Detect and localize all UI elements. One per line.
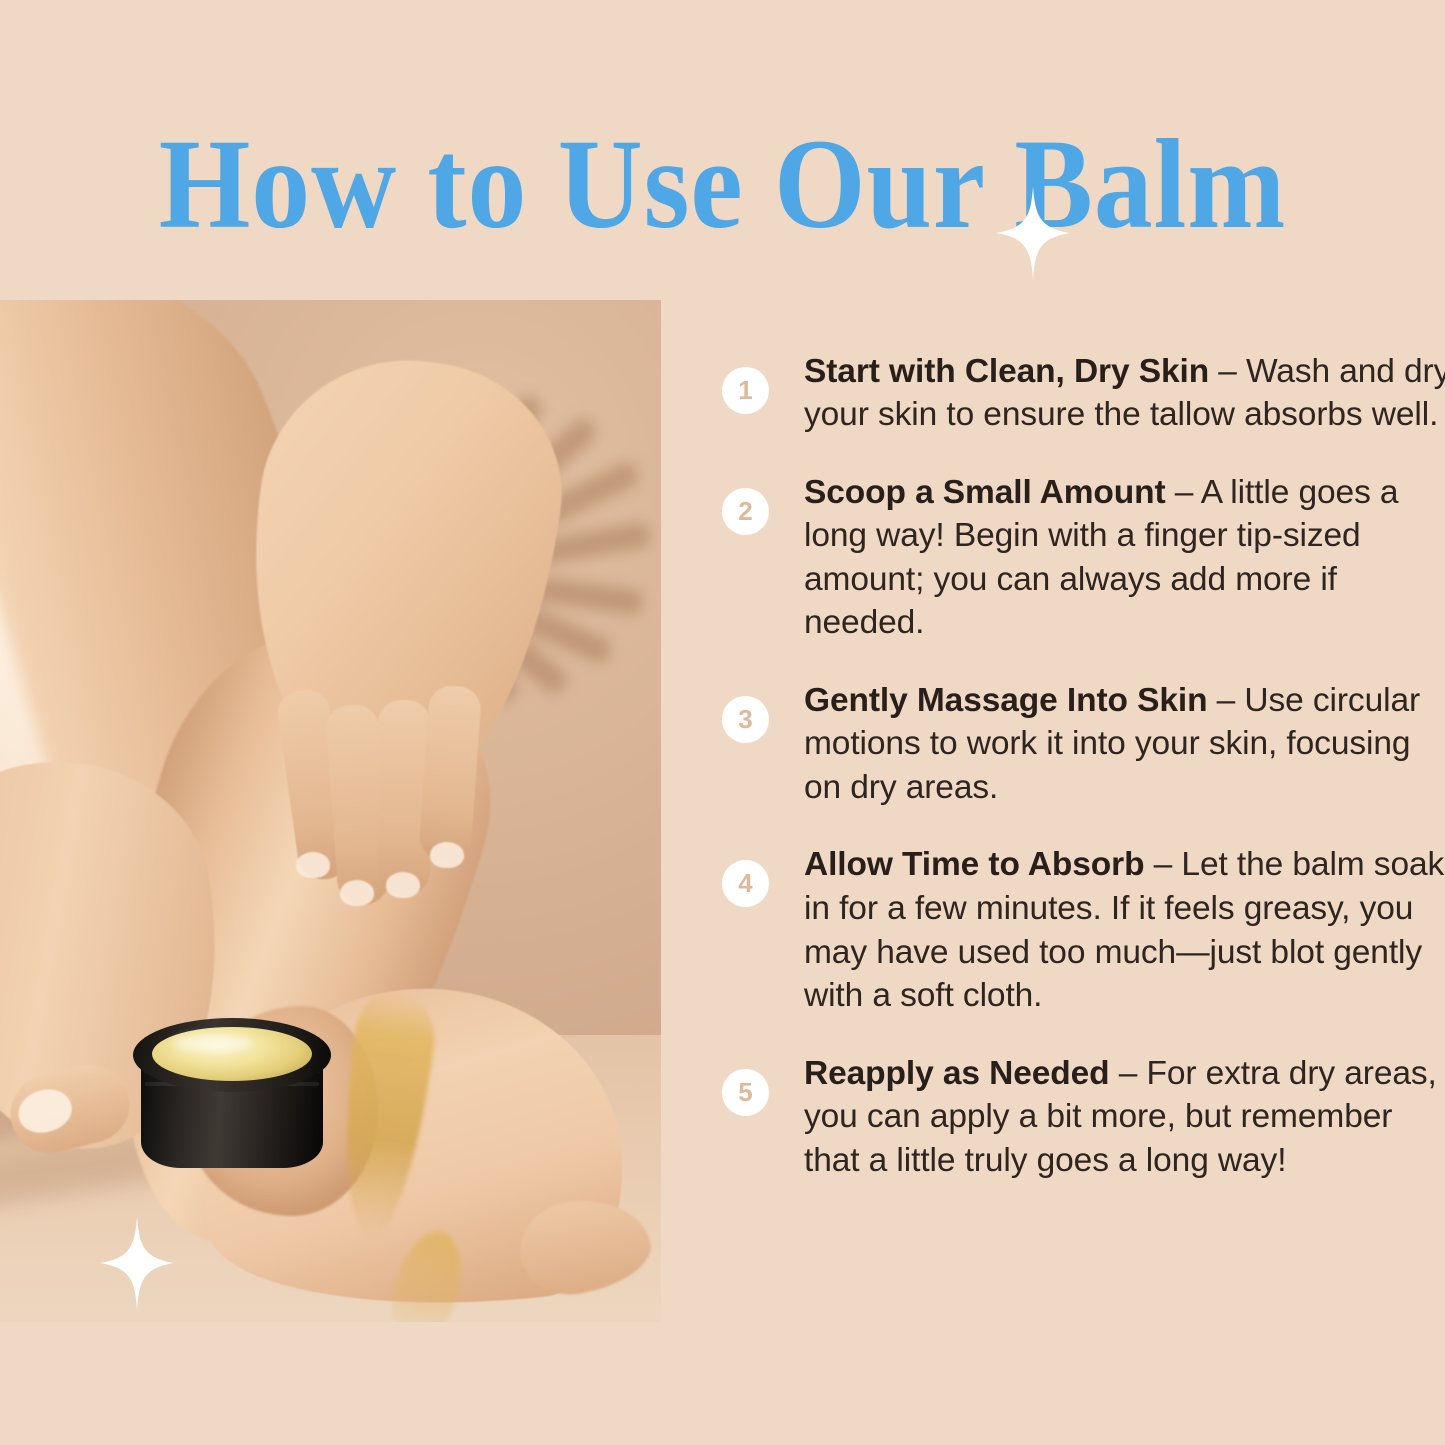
step-text: Gently Massage Into Skin – Use circular …	[804, 679, 1445, 810]
step-separator: –	[1209, 353, 1246, 390]
step-separator: –	[1166, 474, 1201, 511]
photo-fingernail	[430, 842, 464, 868]
step-number-badge: 5	[722, 1069, 769, 1116]
step-text: Allow Time to Absorb – Let the balm soak…	[804, 843, 1445, 1017]
page-title: How to Use Our Balm	[58, 120, 1387, 248]
list-item: 1 Start with Clean, Dry Skin – Wash and …	[722, 350, 1445, 437]
list-item: 3 Gently Massage Into Skin – Use circula…	[722, 679, 1445, 810]
step-title: Allow Time to Absorb	[804, 846, 1144, 883]
step-number-badge: 1	[722, 367, 769, 414]
step-separator: –	[1110, 1055, 1147, 1092]
step-number-badge: 2	[722, 488, 769, 535]
product-photo	[0, 300, 661, 1322]
step-text: Scoop a Small Amount – A little goes a l…	[804, 471, 1445, 645]
photo-fingernail	[386, 872, 420, 898]
photo-fingernail	[296, 852, 330, 878]
list-item: 5 Reapply as Needed – For extra dry area…	[722, 1052, 1445, 1183]
step-text: Start with Clean, Dry Skin – Wash and dr…	[804, 350, 1445, 437]
steps-list: 1 Start with Clean, Dry Skin – Wash and …	[682, 316, 1445, 1216]
photo-fingernail	[340, 880, 374, 906]
infographic-page: How to Use Our Balm	[0, 0, 1445, 1445]
step-number-badge: 3	[722, 696, 769, 743]
step-separator: –	[1144, 846, 1181, 883]
photo-balm-jar	[133, 1012, 331, 1172]
step-title: Scoop a Small Amount	[804, 474, 1166, 511]
step-number-badge: 4	[722, 860, 769, 907]
list-item: 4 Allow Time to Absorb – Let the balm so…	[722, 843, 1445, 1017]
list-item: 2 Scoop a Small Amount – A little goes a…	[722, 471, 1445, 645]
step-separator: –	[1207, 682, 1244, 719]
step-title: Start with Clean, Dry Skin	[804, 353, 1209, 390]
step-text: Reapply as Needed – For extra dry areas,…	[804, 1052, 1445, 1183]
step-title: Gently Massage Into Skin	[804, 682, 1207, 719]
jar-balm-highlight	[173, 1034, 253, 1052]
step-title: Reapply as Needed	[804, 1055, 1110, 1092]
